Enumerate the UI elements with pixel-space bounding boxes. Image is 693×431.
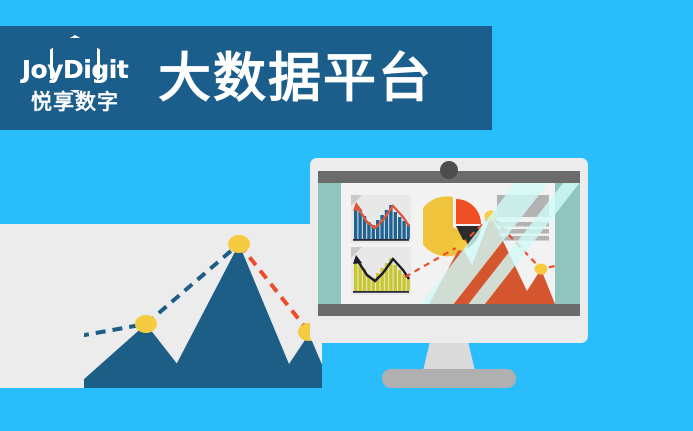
header-banner: JoyDigit 悦享数字 大数据平台 — [0, 26, 492, 130]
logo-chinese-text: 悦享数字 — [31, 92, 119, 113]
page-title: 大数据平台 — [158, 52, 433, 105]
left-panel-backdrop — [0, 224, 84, 388]
blue-mountain-svg — [84, 224, 322, 388]
blue-mountain-chart — [84, 224, 322, 388]
monitor-bottom-bar — [318, 304, 580, 316]
screen-accent-left — [318, 183, 341, 304]
brand-logo: JoyDigit 悦享数字 — [16, 35, 134, 121]
illustration-canvas: JoyDigit 悦享数字 大数据平台 — [0, 0, 693, 431]
data-marker — [135, 315, 157, 333]
data-marker — [228, 235, 250, 253]
monitor-base — [382, 369, 516, 388]
logo-english-text: JoyDigit — [22, 57, 129, 82]
desktop-monitor — [310, 158, 588, 343]
data-marker — [535, 264, 548, 275]
monitor-screen — [318, 183, 580, 304]
monitor-power-button[interactable] — [440, 161, 458, 179]
